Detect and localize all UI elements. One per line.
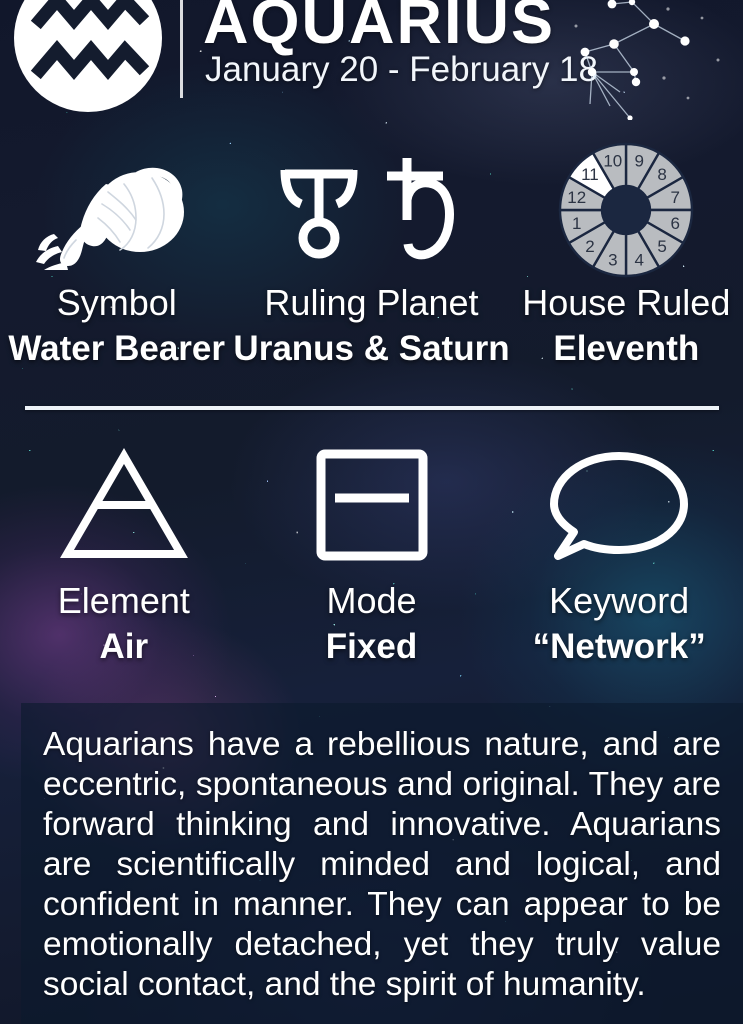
air-triangle-icon (59, 440, 189, 570)
house-number-9: 9 (635, 152, 644, 171)
attribute-mode: Mode Fixed (248, 440, 496, 668)
attribute-house-ruled: 987654321121110 House Ruled Eleventh (510, 146, 743, 370)
attribute-element: Element Air (0, 440, 248, 668)
attribute-label: Element (58, 582, 190, 620)
attributes-row-top: Symbol Water Bearer (0, 146, 743, 370)
description-panel: Aquarians have a rebellious nature, and … (21, 703, 743, 1024)
fixed-square-icon (313, 440, 431, 570)
house-number-11: 11 (581, 165, 599, 184)
aquarius-waves-icon (14, 0, 162, 112)
attribute-label: Ruling Planet (264, 284, 478, 322)
attribute-label: House Ruled (522, 284, 730, 322)
house-number-8: 8 (658, 165, 667, 184)
attribute-keyword: Keyword “Network” (495, 440, 743, 668)
attributes-row-bottom: Element Air Mode Fixed Keyword (0, 440, 743, 668)
house-number-3: 3 (608, 250, 617, 269)
house-number-4: 4 (635, 250, 644, 269)
water-bearer-urn-icon (32, 146, 202, 274)
attribute-label: Keyword (549, 582, 689, 620)
house-number-2: 2 (585, 237, 594, 256)
house-number-7: 7 (671, 188, 680, 207)
attribute-value: Uranus & Saturn (233, 328, 509, 370)
attribute-value: Water Bearer (8, 328, 225, 370)
attribute-value: Air (100, 626, 149, 668)
attribute-value: Fixed (326, 626, 417, 668)
section-divider (25, 406, 719, 410)
attribute-ruling-planet: Ruling Planet Uranus & Saturn (233, 146, 509, 370)
description-text: Aquarians have a rebellious nature, and … (43, 725, 721, 1005)
attribute-label: Mode (326, 582, 416, 620)
speech-bubble-icon (544, 440, 694, 570)
attribute-value: “Network” (533, 626, 706, 668)
attribute-symbol: Symbol Water Bearer (0, 146, 233, 370)
house-number-10: 10 (604, 152, 623, 171)
house-number-6: 6 (671, 214, 680, 233)
header: AQUARIUS January 20 - February 18 (0, 0, 743, 108)
uranus-saturn-glyphs-icon (267, 146, 477, 274)
attribute-value: Eleventh (553, 328, 699, 370)
house-number-1: 1 (572, 214, 581, 233)
date-range: January 20 - February 18 (205, 50, 598, 90)
attribute-label: Symbol (57, 284, 177, 322)
aquarius-constellation-icon (568, 0, 743, 120)
house-wheel-icon: 987654321121110 (556, 146, 696, 274)
header-divider (180, 0, 183, 98)
house-number-12: 12 (568, 188, 587, 207)
house-number-5: 5 (658, 237, 667, 256)
infographic-page: AQUARIUS January 20 - February 18 (0, 0, 743, 1024)
